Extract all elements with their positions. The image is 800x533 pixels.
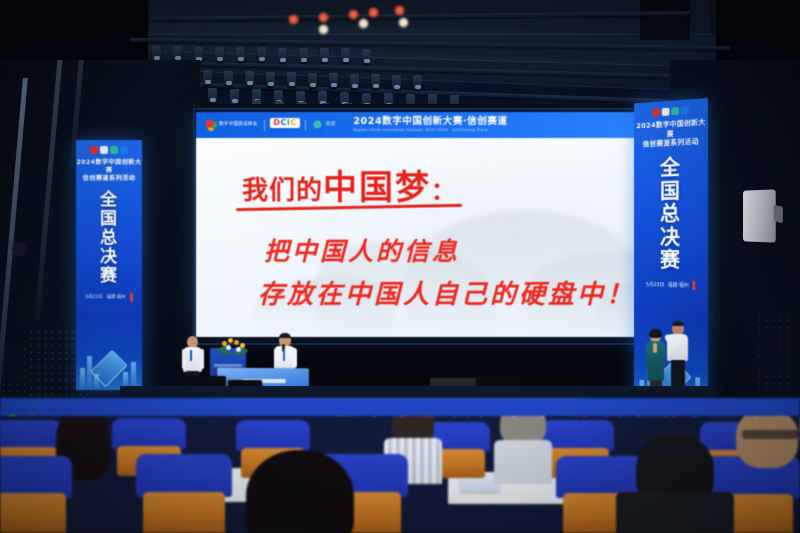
ceiling-light-fixture <box>362 93 371 104</box>
slide-header-title-cn: 2024数字中国创新大赛·信创赛道 <box>353 117 507 127</box>
ceiling-light-fixture <box>287 72 296 87</box>
banner-left-line1: 2024数字中国创新大赛 <box>76 159 142 176</box>
banner-right-headline-char: 全 <box>634 155 708 181</box>
ceiling-light-fixture <box>362 49 371 64</box>
ceiling-light-fixture <box>236 47 245 62</box>
dcic-wordmark: DCIC 数字中国创新大赛 <box>270 118 299 132</box>
slide-header-title-en: Digital China Innovation Contest, DCIC 2… <box>353 129 507 133</box>
ceiling-light-fixture <box>450 95 459 104</box>
ceiling-light-fixture <box>344 103 353 104</box>
banner-left-line2: 信创赛道系列活动 <box>76 175 142 183</box>
banner-right-location: 福建·福州 <box>668 281 689 288</box>
slide-title-prefix: 我们的 <box>242 176 323 206</box>
projection-screen: 数字中国建设峰会 DCIC 数字中国创新大赛 信创 2024数字中国创新大赛·信… <box>196 112 696 337</box>
banner-left-headline-char: 决 <box>76 248 142 267</box>
wall-speaker <box>743 189 776 242</box>
led-banner-left: 2024数字中国创新大赛 信创赛道系列活动 全 国 总 决 赛 5月23日 福建… <box>76 140 142 390</box>
banner-left-date: 5月23日 <box>85 294 102 300</box>
banner-right-headline-char: 国 <box>634 179 708 204</box>
ceiling-light-fixture <box>413 75 422 90</box>
ceiling-light-fixture <box>208 88 217 103</box>
banner-left-footer: 5月23日 福建·福州 <box>76 293 142 302</box>
ceiling-light-fixture <box>245 71 254 86</box>
stage-spotlight-white <box>358 18 369 29</box>
stage-spotlight-red <box>394 5 405 16</box>
banner-left-location: 福建·福州 <box>107 294 126 300</box>
audience-chair <box>0 456 72 533</box>
stage-attendant-right <box>666 322 690 392</box>
ceiling-light-fixture <box>299 48 308 63</box>
banner-left-headline-char: 全 <box>76 191 142 210</box>
ceiling-light-fixture <box>428 94 437 104</box>
slide-line-2: 存放在中国人自己的硬盘中！ <box>258 274 635 311</box>
ceiling-light-fixture <box>215 47 224 62</box>
stage-spotlight-white <box>398 17 409 28</box>
xincreate-mark-label: 信创 <box>326 123 336 128</box>
xincreate-mark: 信创 <box>311 119 338 132</box>
banner-right-footer: 5月23日 福建·福州 <box>634 280 708 290</box>
attendee-mid-striped-body <box>494 440 552 484</box>
banner-right-subtitle: 2024数字中国创新大赛 信创赛道系列活动 <box>634 118 708 150</box>
ceiling-light-fixture <box>406 94 415 104</box>
banner-left-city-graphic <box>76 315 142 390</box>
banner-right-headline-char: 决 <box>634 226 708 250</box>
banner-right-flag-accent <box>692 281 695 290</box>
banner-right-headline-char: 总 <box>634 202 708 226</box>
ceiling-light-fixture <box>384 93 393 104</box>
ceiling-light-fixture <box>257 47 266 62</box>
banner-left-subtitle: 2024数字中国创新大赛 信创赛道系列活动 <box>76 159 142 184</box>
banner-right-logos <box>634 105 708 118</box>
slide-line-1: 把中国人的信息 <box>264 232 460 268</box>
digital-china-mark: 数字中国建设峰会 <box>204 119 259 132</box>
slide-header-bar: 数字中国建设峰会 DCIC 数字中国创新大赛 信创 2024数字中国创新大赛·信… <box>196 112 696 138</box>
ceiling-light-fixture <box>203 70 212 85</box>
banner-right-headline: 全 国 总 决 赛 <box>634 155 708 273</box>
stage-spotlight-red <box>318 12 329 23</box>
ceiling-light-fixture <box>173 46 182 61</box>
ceiling-light-fixture <box>371 74 380 89</box>
stage-spotlight-red <box>288 14 299 25</box>
slide-header-logos: 数字中国建设峰会 DCIC 数字中国创新大赛 信创 <box>204 118 337 132</box>
ceiling-light-fixture <box>252 100 261 104</box>
ceiling-light-fixture <box>224 71 233 86</box>
floral-arrangement <box>216 336 250 356</box>
attendee-front-center <box>246 450 354 533</box>
slide-title-main: 中国梦 <box>323 168 431 208</box>
dcic-wordmark-sub: 数字中国创新大赛 <box>270 128 299 132</box>
audience-seating <box>0 416 800 533</box>
eyeglasses <box>742 430 798 439</box>
ceiling-light-fixture <box>298 102 307 104</box>
banner-left-headline-char: 赛 <box>76 267 142 286</box>
banner-left-headline: 全 国 总 决 赛 <box>76 191 142 286</box>
ceiling-light-fixture <box>275 101 284 104</box>
ceiling-light-fixture <box>266 72 275 87</box>
slide-title-colon: ： <box>431 177 455 205</box>
stage-spotlight-red <box>368 7 379 18</box>
digital-china-mark-label: 数字中国建设峰会 <box>219 123 257 128</box>
ceiling-light-fixture <box>321 103 330 105</box>
audience-chair <box>136 454 232 533</box>
acoustic-dot-panel <box>0 346 28 404</box>
ceiling-light-fixture <box>308 73 317 88</box>
slide-title: 我们的中国梦： <box>242 160 455 209</box>
banner-right-date: 5月23日 <box>646 281 664 288</box>
attendee-front-right-body <box>616 492 734 533</box>
ceiling-light-fixture <box>230 89 239 104</box>
ceiling-light-fixture <box>392 75 401 90</box>
slide-content: 我们的中国梦： 把中国人的信息 存放在中国人自己的硬盘中！ <box>196 138 696 337</box>
attendee-right-glasses <box>736 416 798 468</box>
banner-right-headline-char: 赛 <box>634 249 708 273</box>
banner-left-flag-accent <box>130 293 133 302</box>
podium-label <box>214 364 242 367</box>
ceiling-light-fixture <box>278 48 287 63</box>
banner-left-logos <box>76 146 142 154</box>
ceiling-light-fixture <box>152 46 161 61</box>
conference-hall-photo: 数字中国建设峰会 DCIC 数字中国创新大赛 信创 2024数字中国创新大赛·信… <box>0 0 800 533</box>
ceiling-light-fixture <box>329 73 338 88</box>
stage-spotlight-white <box>318 24 329 35</box>
ceiling-light-fixture <box>341 48 350 63</box>
ceiling-light-fixture <box>320 48 329 63</box>
ceiling-light-fixture <box>340 92 349 104</box>
stage-host-female <box>645 330 667 392</box>
stage-spotlight-red <box>348 9 359 20</box>
banner-left-headline-char: 总 <box>76 229 142 248</box>
acoustic-dot-panel <box>756 310 792 400</box>
ceiling-light-fixture <box>350 74 359 89</box>
banner-left-headline-char: 国 <box>76 210 142 229</box>
